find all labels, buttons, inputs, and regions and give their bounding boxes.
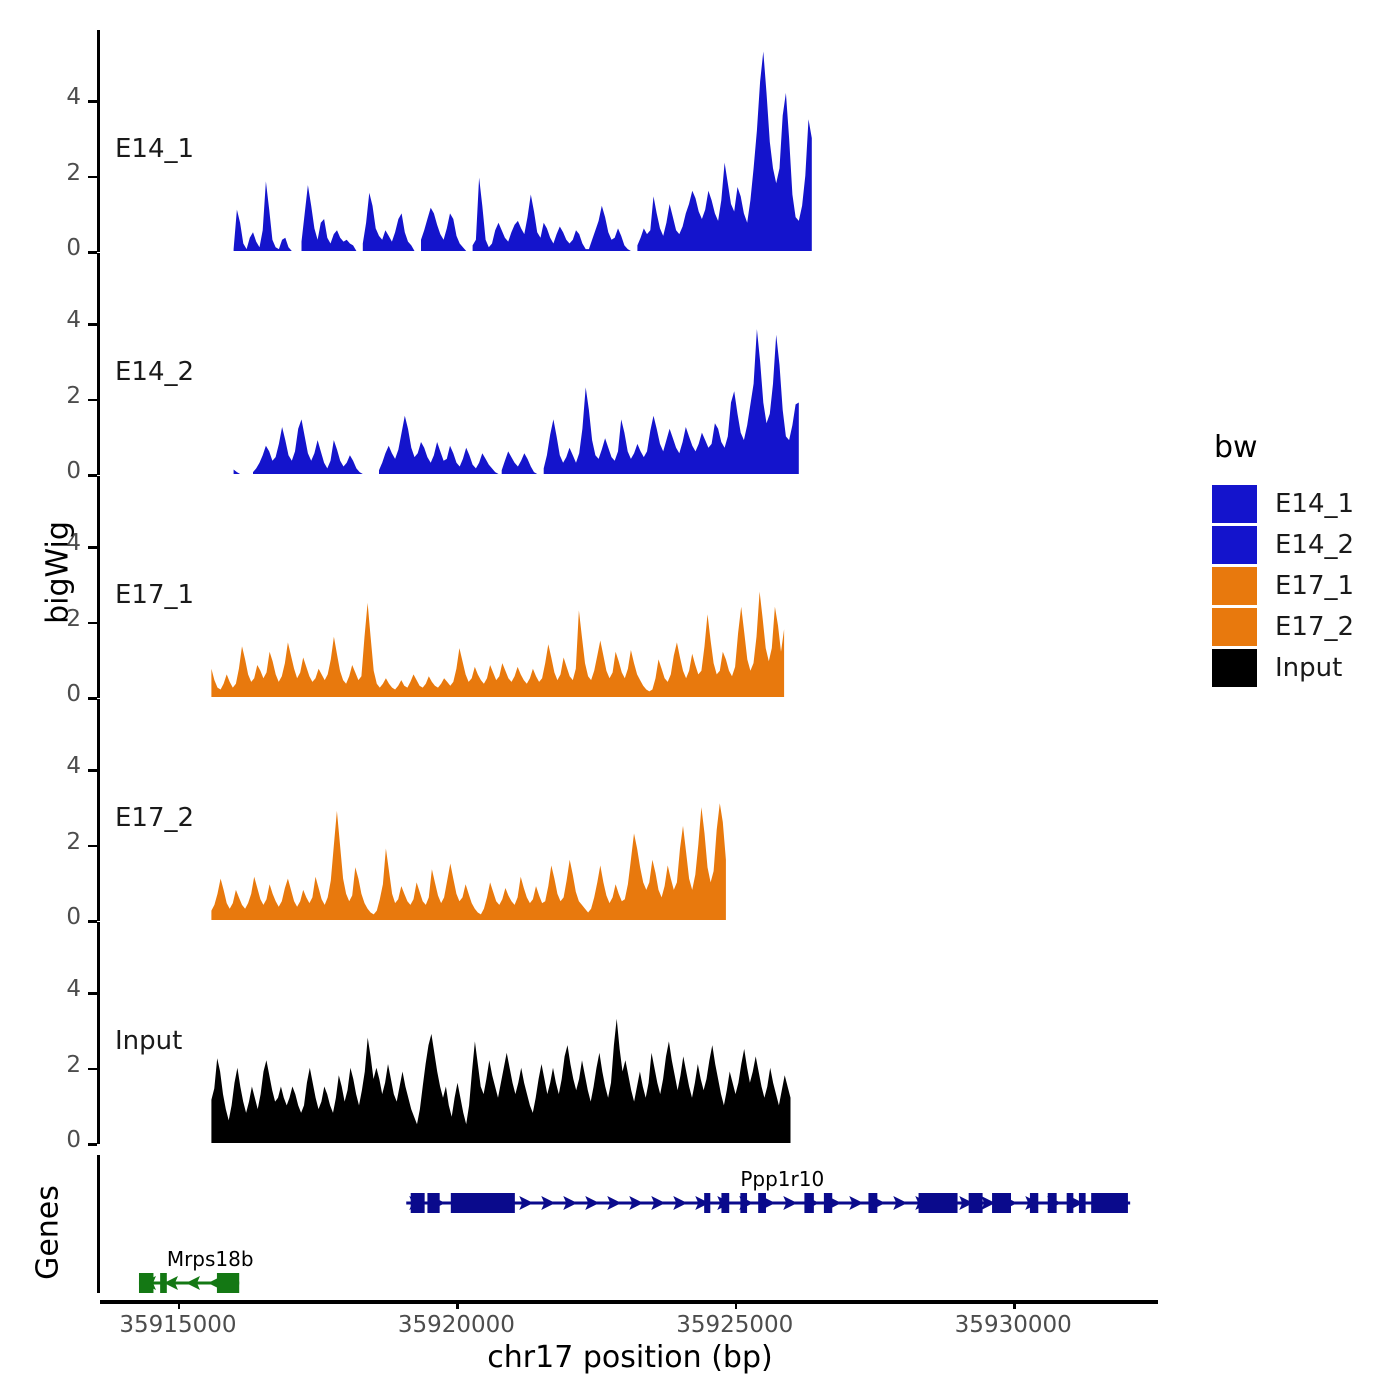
y-axis-label-genes: Genes <box>31 1153 66 1313</box>
y-axis-tick-label: 4 <box>35 753 81 779</box>
x-axis-tick-label: 35915000 <box>98 1312 258 1338</box>
gene-label-mrps18b: Mrps18b <box>167 1247 254 1271</box>
legend-color-swatch <box>1212 567 1257 605</box>
y-axis-tick-label: 4 <box>35 307 81 333</box>
x-axis-tick-label: 35920000 <box>376 1312 536 1338</box>
track-panel-e14_1: 024E14_1 <box>97 30 1158 252</box>
legend-item-label: E17_1 <box>1275 571 1354 601</box>
y-axis-tick-label: 2 <box>35 1052 81 1078</box>
gene-exon <box>1091 1193 1128 1213</box>
y-axis-tick <box>88 622 97 625</box>
gene-exon <box>411 1193 425 1213</box>
gene-exon <box>1079 1193 1086 1213</box>
y-axis-tick <box>88 399 97 402</box>
gene-exon <box>704 1193 710 1213</box>
gene-exon <box>139 1273 153 1293</box>
legend: bw E14_1E14_2E17_1E17_2Input <box>1212 430 1354 688</box>
legend-color-swatch <box>1212 526 1257 564</box>
gene-exon <box>1030 1193 1038 1213</box>
gene-exon <box>1048 1193 1057 1213</box>
legend-color-swatch <box>1212 649 1257 687</box>
genes-track-svg <box>97 1155 1159 1303</box>
y-axis-tick-label: 2 <box>35 606 81 632</box>
legend-item-label: E14_1 <box>1275 489 1354 519</box>
track-panel-e17_2: 024E17_2 <box>97 699 1158 921</box>
legend-item-label: E17_2 <box>1275 612 1354 642</box>
y-axis-tick-label: 2 <box>35 160 81 186</box>
y-axis-tick <box>88 176 97 179</box>
genes-track-panel: Ppp1r10Mrps18b <box>97 1155 1159 1303</box>
y-axis-tick-label: 4 <box>35 530 81 556</box>
track-panel-input: 024Input <box>97 922 1158 1144</box>
y-axis-tick <box>88 769 97 772</box>
legend-item-label: E14_2 <box>1275 530 1354 560</box>
y-axis-tick <box>88 697 97 700</box>
y-axis-tick <box>88 546 97 549</box>
gene-exon <box>451 1193 515 1213</box>
y-axis-tick <box>88 251 97 254</box>
legend-item-e14_2[interactable]: E14_2 <box>1212 524 1354 565</box>
track-panel-e17_1: 024E17_1 <box>97 476 1158 698</box>
track-panel-e14_2: 024E14_2 <box>97 253 1158 475</box>
legend-title: bw <box>1214 430 1354 465</box>
legend-color-swatch <box>1212 485 1257 523</box>
legend-color-swatch <box>1212 608 1257 646</box>
y-axis-tick-label: 4 <box>35 84 81 110</box>
y-axis-tick-label: 0 <box>35 1127 81 1153</box>
y-axis-tick <box>88 1068 97 1071</box>
y-axis-tick <box>88 845 97 848</box>
y-axis-tick <box>88 992 97 995</box>
y-axis-tick <box>88 100 97 103</box>
legend-item-e17_1[interactable]: E17_1 <box>1212 565 1354 606</box>
gene-exon <box>969 1193 983 1213</box>
gene-exon <box>160 1273 167 1293</box>
y-axis-tick-label: 0 <box>35 235 81 261</box>
legend-item-e17_2[interactable]: E17_2 <box>1212 606 1354 647</box>
y-axis-tick <box>88 474 97 477</box>
x-axis-label: chr17 position (bp) <box>100 1340 1160 1375</box>
y-axis-tick-label: 0 <box>35 681 81 707</box>
genome-browser-figure: bigWig Genes chr17 position (bp) 024E14_… <box>0 0 1400 1400</box>
gene-exon <box>919 1193 958 1213</box>
gene-exon <box>217 1273 239 1293</box>
signal-area-input <box>100 936 1158 1145</box>
gene-label-ppp1r10: Ppp1r10 <box>740 1167 824 1191</box>
legend-item-e14_1[interactable]: E14_1 <box>1212 483 1354 524</box>
gene-exon <box>1067 1193 1074 1213</box>
y-axis-tick <box>88 920 97 923</box>
signal-area-e17_1 <box>100 490 1158 699</box>
gene-exon <box>868 1193 877 1213</box>
y-axis-tick-label: 2 <box>35 829 81 855</box>
y-axis-tick-label: 0 <box>35 904 81 930</box>
gene-exon <box>740 1193 747 1213</box>
gene-exon <box>758 1193 766 1213</box>
gene-exon <box>721 1193 729 1213</box>
gene-exon <box>427 1193 439 1213</box>
gene-exon <box>824 1193 832 1213</box>
signal-area-e17_2 <box>100 713 1158 922</box>
y-axis-tick <box>88 323 97 326</box>
gene-exon <box>804 1193 813 1213</box>
legend-item-label: Input <box>1275 653 1342 683</box>
y-axis-tick-label: 0 <box>35 458 81 484</box>
gene-exon <box>992 1193 1011 1213</box>
legend-items: E14_1E14_2E17_1E17_2Input <box>1212 483 1354 688</box>
signal-area-e14_2 <box>100 267 1158 476</box>
x-axis-tick-label: 35930000 <box>933 1312 1093 1338</box>
y-axis-tick-label: 4 <box>35 976 81 1002</box>
x-axis-tick-label: 35925000 <box>655 1312 815 1338</box>
y-axis-tick-label: 2 <box>35 383 81 409</box>
genes-axis-spine <box>97 1155 100 1293</box>
legend-item-input[interactable]: Input <box>1212 647 1354 688</box>
y-axis-tick <box>88 1143 97 1146</box>
signal-area-e14_1 <box>100 44 1158 253</box>
